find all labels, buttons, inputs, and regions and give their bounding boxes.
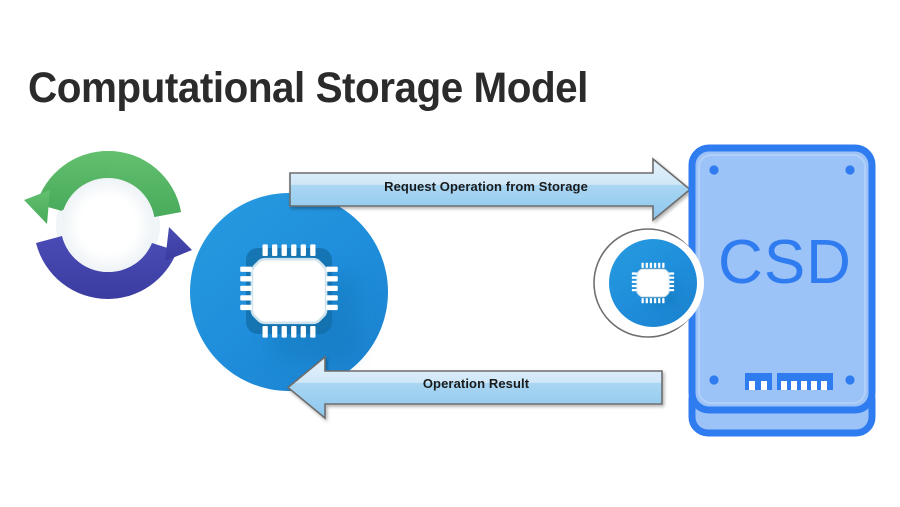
- screw-icon: [845, 375, 854, 384]
- result-arrow-label: Operation Result: [296, 376, 656, 391]
- screw-icon: [709, 165, 718, 174]
- csd-compute-badge: [594, 229, 704, 337]
- screw-icon: [709, 375, 718, 384]
- diagram-canvas: Computational Storage Model: [0, 0, 900, 507]
- refresh-cycle-icon: [24, 151, 192, 299]
- host-compute-node: [190, 193, 388, 391]
- request-arrow-label: Request Operation from Storage: [296, 179, 676, 194]
- drive-connector: [745, 373, 833, 390]
- csd-label: CSD: [700, 227, 870, 298]
- screw-icon: [845, 165, 854, 174]
